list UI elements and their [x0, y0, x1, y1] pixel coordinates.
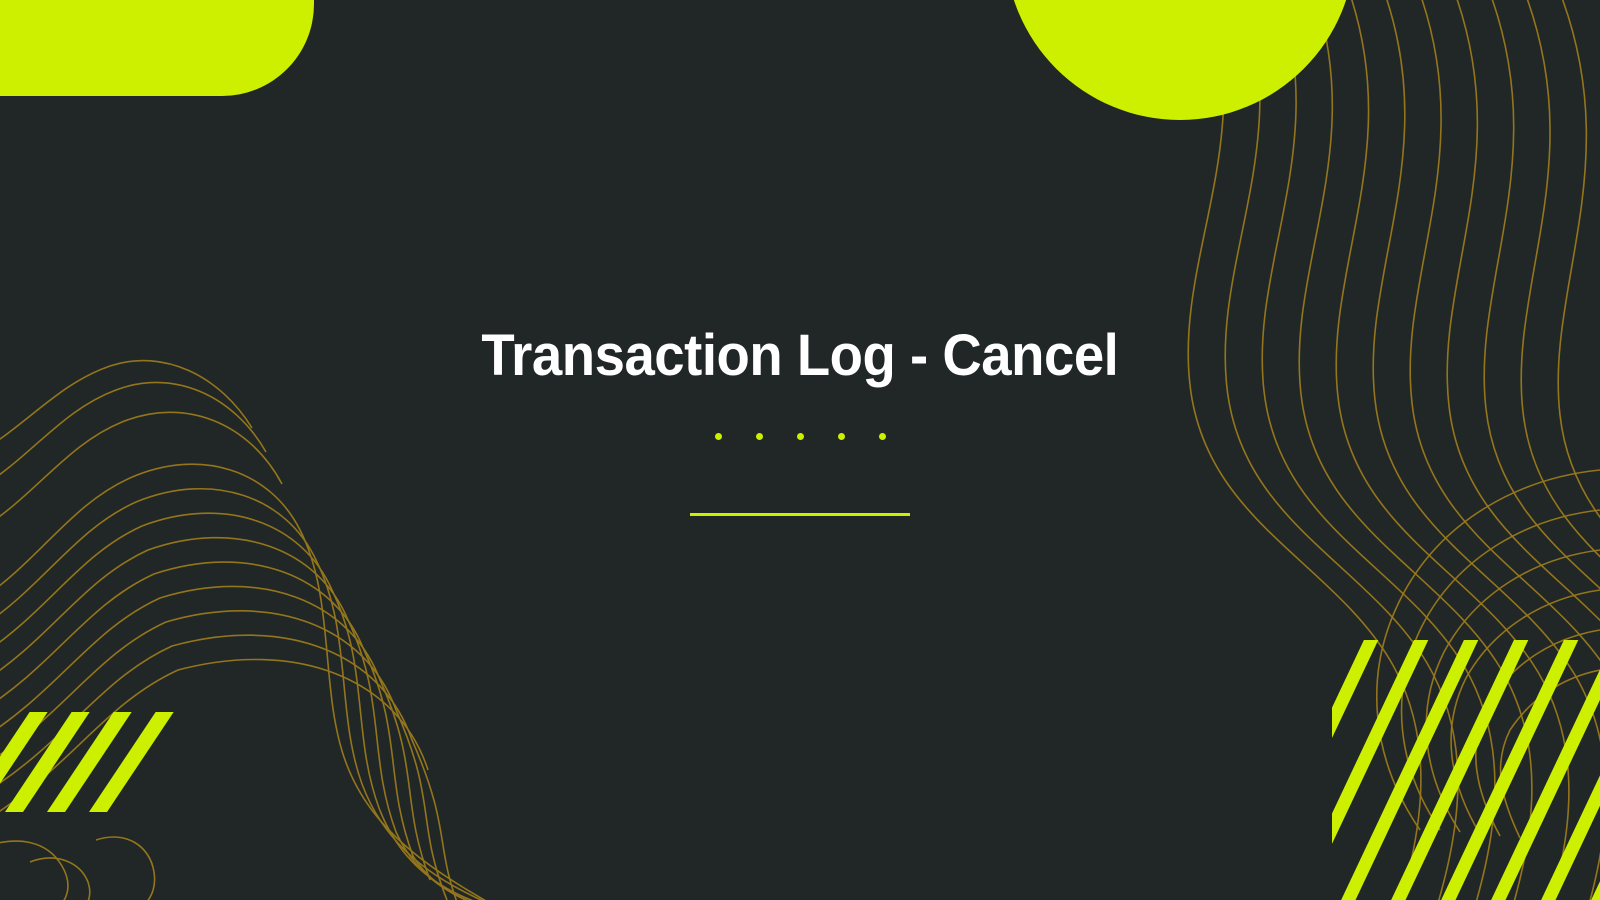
progress-dot-1 [715, 433, 722, 440]
progress-dot-5 [879, 433, 886, 440]
slide-content: Transaction Log - Cancel [0, 0, 1600, 900]
progress-dot-2 [756, 433, 763, 440]
progress-dot-3 [797, 433, 804, 440]
page-title: Transaction Log - Cancel [481, 326, 1118, 387]
progress-dots [715, 433, 886, 440]
accent-rule [690, 513, 910, 516]
progress-dot-4 [838, 433, 845, 440]
slide-canvas: Transaction Log - Cancel [0, 0, 1600, 900]
